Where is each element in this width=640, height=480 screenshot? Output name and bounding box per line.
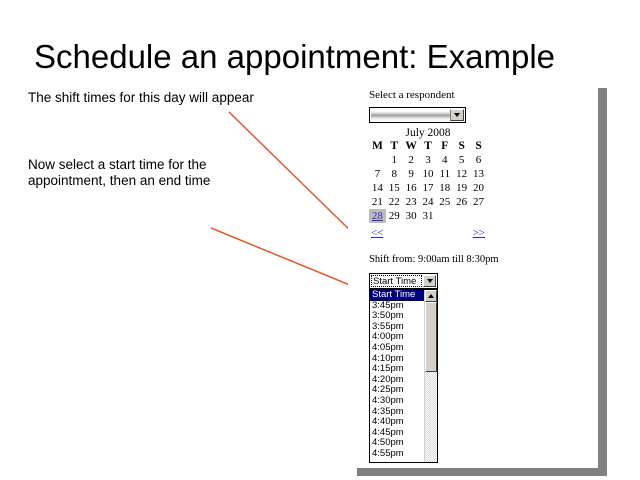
calendar-day (470, 209, 487, 223)
start-time-options-container: Start Time 3:45pm 3:50pm 3:55pm 4:00pm 4… (370, 290, 424, 462)
calendar-day[interactable]: 4 (436, 153, 453, 167)
list-item[interactable]: 4:30pm (370, 396, 424, 407)
start-time-select[interactable]: Start Time (369, 273, 438, 289)
calendar-weekday: W (403, 140, 420, 153)
calendar-day[interactable]: 19 (453, 181, 470, 195)
arrow-to-start-time-select (211, 228, 362, 290)
calendar-day[interactable]: 3 (420, 153, 437, 167)
calendar-weekday: M (369, 140, 386, 153)
calendar-day[interactable]: 20 (470, 181, 487, 195)
calendar-month-label: July 2008 (369, 127, 487, 140)
panel-shadow-right (598, 88, 607, 476)
calendar-day[interactable]: 27 (470, 195, 487, 209)
calendar-day[interactable]: 29 (386, 209, 403, 223)
calendar-weekday: F (436, 140, 453, 153)
calendar-day[interactable]: 10 (420, 167, 437, 181)
chevron-down-icon[interactable] (423, 275, 436, 287)
respondent-select[interactable] (369, 107, 466, 123)
start-time-selected-value: Start Time (371, 275, 422, 287)
calendar-day[interactable]: 7 (369, 167, 386, 181)
respondent-label: Select a respondent (369, 89, 589, 101)
calendar-day[interactable]: 6 (470, 153, 487, 167)
calendar-week-row: 1 2 3 4 5 6 (369, 153, 487, 167)
calendar-day[interactable]: 25 (436, 195, 453, 209)
calendar-day[interactable]: 11 (436, 167, 453, 181)
app-screenshot-panel: Select a respondent July 2008 M T W (348, 80, 598, 468)
calendar-week-row: 14 15 16 17 18 19 20 (369, 181, 487, 195)
calendar-widget[interactable]: July 2008 M T W T F S S (369, 127, 487, 240)
calendar-day-selected[interactable]: 28 (369, 209, 386, 223)
calendar-day[interactable]: 26 (453, 195, 470, 209)
calendar-weekday: S (453, 140, 470, 153)
calendar-day[interactable]: 15 (386, 181, 403, 195)
list-item[interactable]: 4:05pm (370, 343, 424, 354)
calendar-day[interactable]: 5 (453, 153, 470, 167)
calendar-day[interactable]: 8 (386, 167, 403, 181)
calendar-day[interactable]: 14 (369, 181, 386, 195)
scroll-up-arrow-icon[interactable] (425, 290, 437, 302)
calendar-prev-month-link[interactable]: << (371, 227, 383, 239)
calendar-day[interactable]: 22 (386, 195, 403, 209)
scrollbar-thumb[interactable] (425, 302, 437, 372)
calendar-weekday: S (470, 140, 487, 153)
calendar-day[interactable] (369, 153, 386, 167)
start-time-option-list[interactable]: Start Time 3:45pm 3:50pm 3:55pm 4:00pm 4… (369, 289, 438, 463)
calendar-nav: << >> (369, 227, 487, 240)
list-item-selected[interactable]: Start Time (370, 290, 424, 301)
panel-shadow-bottom (357, 468, 607, 476)
calendar-day[interactable]: 21 (369, 195, 386, 209)
calendar-day[interactable]: 13 (470, 167, 487, 181)
calendar-week-row: 28 29 30 31 (369, 209, 487, 223)
calendar-day[interactable]: 30 (403, 209, 420, 223)
calendar-next-month-link[interactable]: >> (473, 227, 485, 239)
scrollbar-track[interactable] (425, 372, 437, 462)
calendar-header-row: M T W T F S S (369, 140, 487, 153)
calendar-week-row: 7 8 9 10 11 12 13 (369, 167, 487, 181)
list-item[interactable]: 4:55pm (370, 449, 424, 460)
calendar-day[interactable]: 24 (420, 195, 437, 209)
calendar-day[interactable]: 17 (420, 181, 437, 195)
calendar-weekday: T (420, 140, 437, 153)
calendar-day[interactable]: 16 (403, 181, 420, 195)
calendar-week-row: 21 22 23 24 25 26 27 (369, 195, 487, 209)
calendar-day[interactable]: 9 (403, 167, 420, 181)
page-title: Schedule an appointment: Example (34, 38, 555, 76)
shift-range-text: Shift from: 9:00am till 8:30pm (369, 254, 589, 265)
slide-canvas: Schedule an appointment: Example The shi… (0, 0, 640, 480)
calendar-day[interactable]: 23 (403, 195, 420, 209)
callout-shift-times: The shift times for this day will appear (28, 90, 258, 106)
calendar-day[interactable]: 12 (453, 167, 470, 181)
calendar-day (436, 209, 453, 223)
respondent-selected-value (371, 109, 450, 121)
calendar-day[interactable]: 31 (420, 209, 437, 223)
scrollbar-vertical[interactable] (424, 290, 437, 462)
calendar-day[interactable]: 1 (386, 153, 403, 167)
callout-select-start-end: Now select a start time for the appointm… (28, 157, 258, 189)
calendar-table: M T W T F S S 1 2 (369, 140, 487, 223)
calendar-day[interactable]: 2 (403, 153, 420, 167)
chevron-down-icon[interactable] (450, 109, 464, 121)
calendar-weekday: T (386, 140, 403, 153)
calendar-day (453, 209, 470, 223)
calendar-day[interactable]: 18 (436, 181, 453, 195)
